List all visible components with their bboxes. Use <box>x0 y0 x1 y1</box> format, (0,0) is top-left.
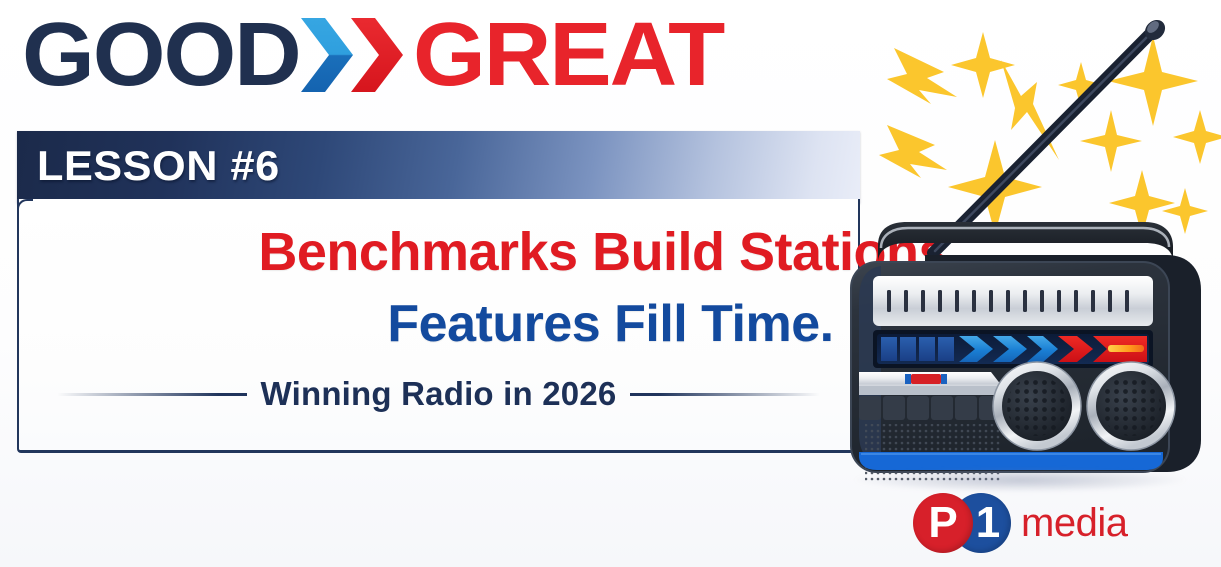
four-point-star-icon <box>1080 110 1142 172</box>
radio-illustration <box>815 0 1221 520</box>
radio-svg <box>815 0 1221 520</box>
dial-tick-strip <box>873 276 1153 326</box>
brand-wordmark: GOOD <box>22 6 711 104</box>
subtitle-text: Winning Radio in 2026 <box>261 375 617 413</box>
logo-wordmark-text: media group <box>1021 493 1221 567</box>
divider-rule-right <box>630 393 820 396</box>
four-point-star-icon <box>1162 188 1208 234</box>
lightning-sparkle-icon <box>879 125 947 178</box>
antenna-icon <box>933 16 1169 253</box>
dial-indicator-bar <box>873 330 1153 368</box>
poster-canvas: GOOD <box>0 0 1221 567</box>
lesson-number-label: LESSON #6 <box>37 142 280 190</box>
wordmark-good: GOOD <box>22 10 300 100</box>
red-indicator-icon <box>911 374 941 384</box>
lightning-sparkle-icon <box>1001 60 1059 160</box>
divider-rule-left <box>57 393 247 396</box>
speaker-left <box>993 362 1081 450</box>
p1-media-group-logo: 1 P media group <box>913 493 1221 567</box>
chevron-pair <box>299 16 405 94</box>
speaker-right <box>1087 362 1175 450</box>
four-point-star-icon <box>1108 36 1198 126</box>
subtitle-row: Winning Radio in 2026 <box>17 372 860 416</box>
wordmark-great: GREAT <box>413 10 723 100</box>
chevron-right-red-icon <box>349 16 405 94</box>
lightning-sparkle-icon <box>887 48 957 104</box>
chevron-right-blue-icon <box>299 16 355 94</box>
four-point-star-icon <box>951 32 1015 98</box>
four-point-star-icon <box>1173 110 1221 164</box>
logo-circle-p: P <box>913 493 973 553</box>
radio-drop-shadow <box>855 468 1185 492</box>
